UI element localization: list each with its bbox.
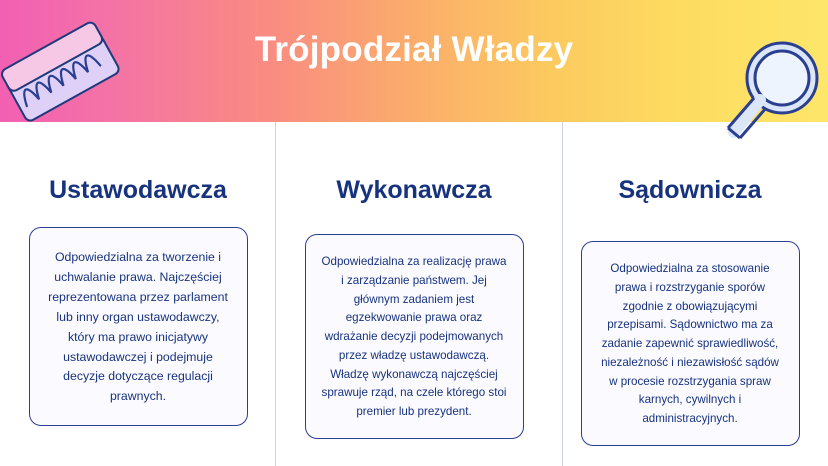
column-ustawodawcza: Ustawodawcza Odpowiedzialna za tworzenie… <box>0 122 276 466</box>
column-title-3: Sądownicza <box>618 176 761 205</box>
presentation-slide: Trójpodział Władzy Ustawodawcza Odpowied… <box>0 0 828 466</box>
column-card-3: Odpowiedzialna za stosowanie prawa i roz… <box>581 241 800 446</box>
column-card-2: Odpowiedzialna za realizację prawa i zar… <box>305 234 524 439</box>
slide-header: Trójpodział Władzy <box>0 0 828 122</box>
columns-container: Ustawodawcza Odpowiedzialna za tworzenie… <box>0 122 828 466</box>
column-title-1: Ustawodawcza <box>49 176 227 205</box>
column-sadownicza: Sądownicza Odpowiedzialna za stosowanie … <box>552 122 828 466</box>
column-card-1: Odpowiedzialna za tworzenie i uchwalanie… <box>29 227 248 426</box>
column-wykonawcza: Wykonawcza Odpowiedzialna za realizację … <box>276 122 552 466</box>
column-title-2: Wykonawcza <box>336 176 491 205</box>
slide-title: Trójpodział Władzy <box>0 30 828 70</box>
